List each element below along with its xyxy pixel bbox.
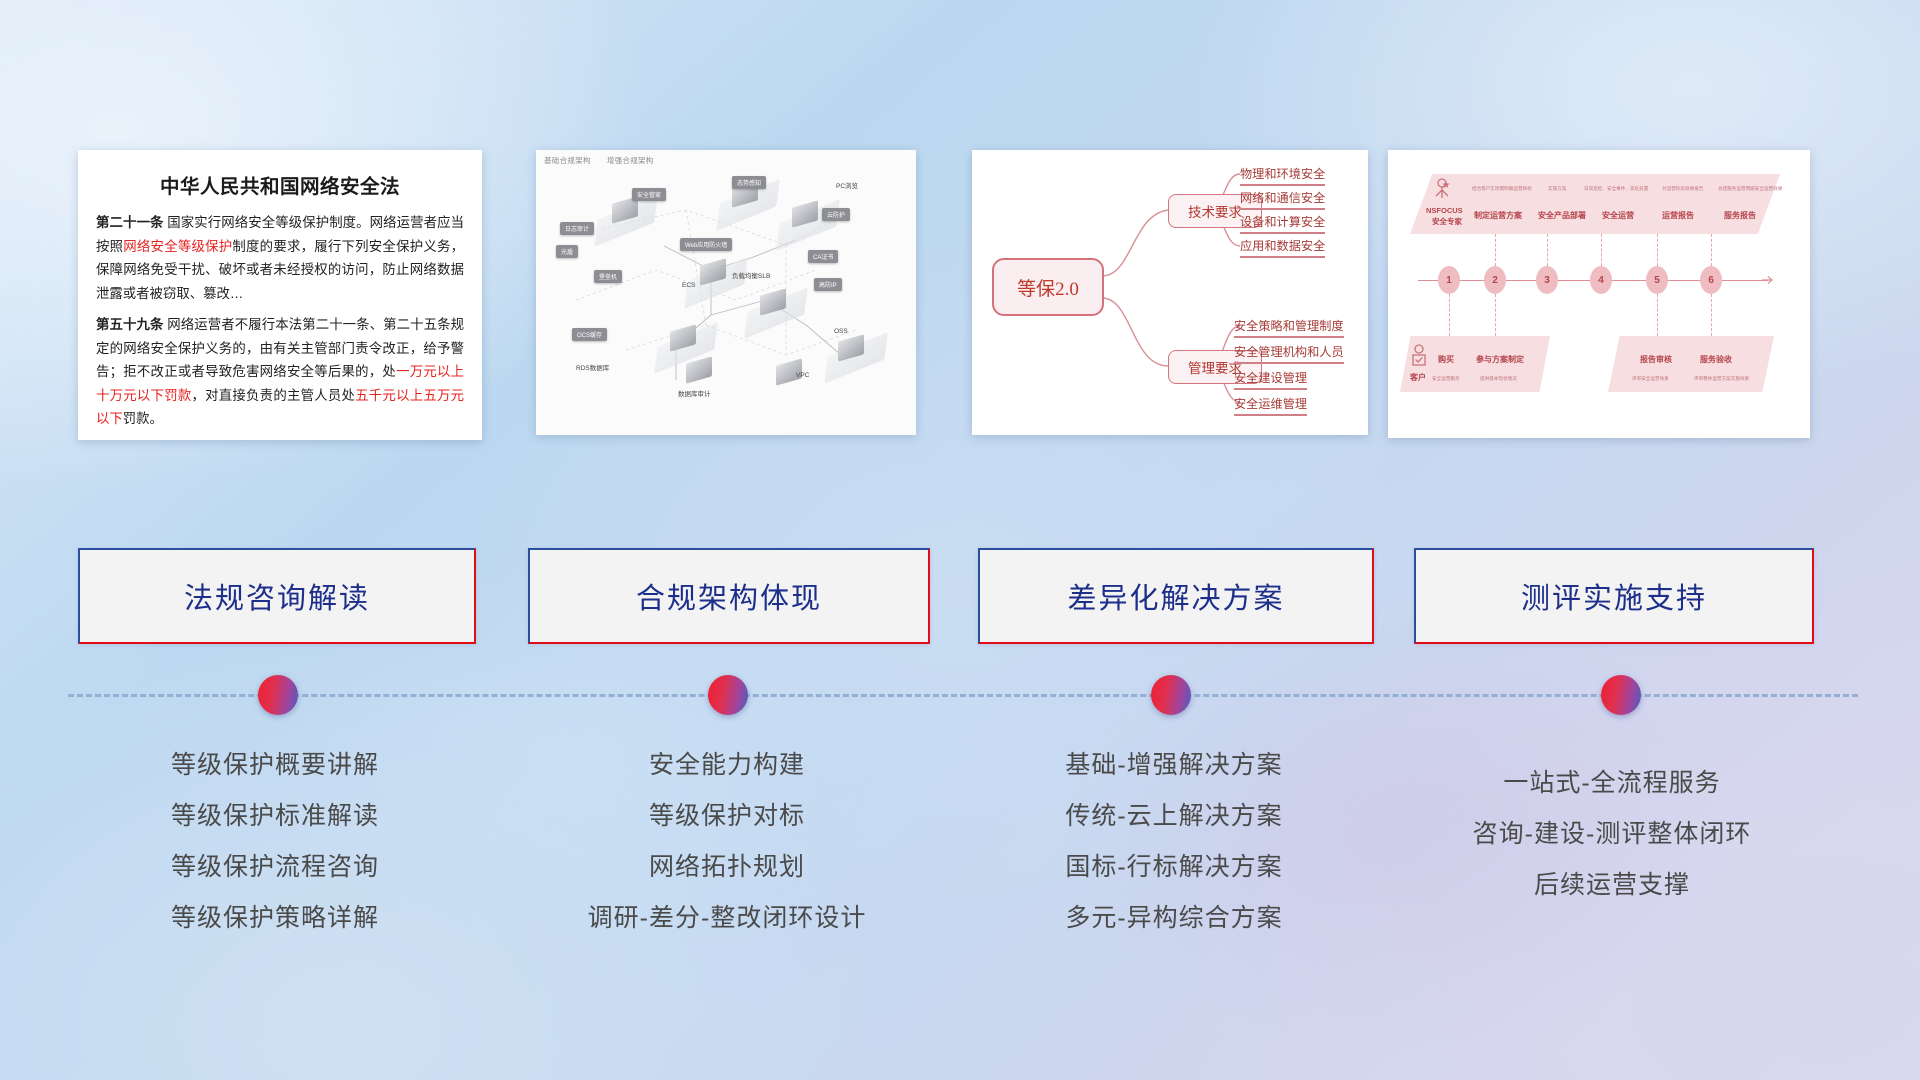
note-step-2: 实施方案 <box>1548 186 1566 192</box>
connector-5-bottom <box>1657 294 1658 336</box>
label-step-4: 运营报告 <box>1662 210 1694 221</box>
label-step-1: 制定运营方案 <box>1474 210 1522 221</box>
timeline-marker-2: 2 <box>1484 266 1506 294</box>
connector-6-bottom <box>1711 294 1712 336</box>
title-label-evaluation: 测评实施支持 <box>1521 575 1707 617</box>
law-document: 中华人民共和国网络安全法 第二十一条 国家实行网络安全等级保护制度。网络运营者应… <box>78 150 482 440</box>
title-box-solutions[interactable]: 差异化解决方案 <box>978 548 1374 644</box>
band-provider <box>1410 174 1780 234</box>
connector-2-bottom <box>1495 294 1496 336</box>
label-report-review: 报告审核 <box>1640 354 1672 365</box>
security-expert-icon <box>1432 178 1452 204</box>
timeline-marker-6: 6 <box>1700 266 1722 294</box>
label-step-5: 服务报告 <box>1724 210 1756 221</box>
list-item: 国标-行标解决方案 <box>978 842 1370 893</box>
article-21-highlight: 网络安全等级保护 <box>123 239 232 254</box>
note-participate: 提供基本现状情况 <box>1480 376 1517 382</box>
customer-icon <box>1410 344 1428 368</box>
title-box-architecture[interactable]: 合规架构体现 <box>528 548 930 644</box>
note-step-5: 总结服务运营周期安全运营效果 <box>1718 186 1782 192</box>
card-service-timeline[interactable]: NSFOCUS 安全专家 结合客户实际需明确运营目标 实施方案 日常巡检、安全事… <box>1388 150 1810 438</box>
provider-role: 安全专家 <box>1432 216 1462 227</box>
mindmap-leaf-network: 网络和通信安全 <box>1240 188 1325 210</box>
timeline-arrow-icon <box>1762 273 1776 287</box>
timeline-marker-4: 4 <box>1590 266 1612 294</box>
list-item: 咨询-建设-测评整体闭环 <box>1414 809 1810 860</box>
title-label-architecture: 合规架构体现 <box>636 575 822 617</box>
card-cloud-architecture[interactable]: 基础合规架构增强合规架构 <box>536 150 916 435</box>
node-pc: PC浏览 <box>836 180 858 190</box>
title-label-solutions: 差异化解决方案 <box>1067 575 1284 617</box>
mindmap-leaf-org: 安全管理机构和人员 <box>1234 342 1344 364</box>
note-report-review: 评审安全运营效果 <box>1632 376 1669 382</box>
detail-list-evaluation: 一站式-全流程服务 咨询-建设-测评整体闭环 后续运营支撑 <box>1414 758 1810 911</box>
connector-3-top <box>1547 234 1548 266</box>
slide-stage: 中华人民共和国网络安全法 第二十一条 国家实行网络安全等级保护制度。网络运营者应… <box>0 0 1920 1080</box>
connector-6-top <box>1711 234 1712 266</box>
provider-name: NSFOCUS <box>1426 206 1463 215</box>
node-taishi: 态势感知 <box>732 176 766 189</box>
note-buy: 安全运营服务 <box>1432 376 1460 382</box>
label-acceptance: 服务验收 <box>1700 354 1732 365</box>
note-step-4: 对运营阶段效果报告 <box>1662 186 1703 192</box>
label-buy: 购买 <box>1438 354 1454 365</box>
node-waf: Web应用防火墙 <box>680 238 732 251</box>
label-step-2: 安全产品部署 <box>1538 210 1586 221</box>
connector-2-top <box>1495 234 1496 266</box>
card-cybersecurity-law[interactable]: 中华人民共和国网络安全法 第二十一条 国家实行网络安全等级保护制度。网络运营者应… <box>78 150 482 440</box>
node-baoleiji: 堡垒机 <box>594 270 622 283</box>
mindmap-leaf-build: 安全建设管理 <box>1234 368 1307 390</box>
mindmap-leaf-physical: 物理和环境安全 <box>1240 164 1325 186</box>
label-step-3: 安全运营 <box>1602 210 1634 221</box>
detail-list-regulation: 等级保护概要讲解 等级保护标准解读 等级保护流程咨询 等级保护策略详解 <box>78 740 472 944</box>
node-ocs: OCS缓存 <box>572 328 607 341</box>
list-item: 一站式-全流程服务 <box>1414 758 1810 809</box>
mindmap-leaf-application: 应用和数据安全 <box>1240 236 1325 258</box>
mindmap-leaf-policy: 安全策略和管理制度 <box>1234 316 1344 338</box>
node-db-audit: 数据库审计 <box>678 388 711 398</box>
law-title: 中华人民共和国网络安全法 <box>96 170 464 199</box>
list-item: 等级保护策略详解 <box>78 893 472 944</box>
timeline-node-1[interactable] <box>258 675 298 715</box>
architecture-diagram: 基础合规架构增强合规架构 <box>536 150 916 435</box>
timeline-marker-1: 1 <box>1438 266 1460 294</box>
note-step-3: 日常巡检、安全事件、高危处置 <box>1584 186 1648 192</box>
band-customer-right <box>1608 336 1774 392</box>
node-rizhi: 日志审计 <box>560 222 594 235</box>
timeline-node-3[interactable] <box>1151 675 1191 715</box>
label-participate: 参与方案制定 <box>1476 354 1524 365</box>
timeline-dashed-line <box>68 694 1858 697</box>
mindmap-leaf-device: 设备和计算安全 <box>1240 212 1325 234</box>
title-box-regulation[interactable]: 法规咨询解读 <box>78 548 476 644</box>
node-gaofangip: 高防IP <box>814 278 842 291</box>
list-item: 等级保护流程咨询 <box>78 842 472 893</box>
list-item: 调研-差分-整改闭环设计 <box>528 893 926 944</box>
mindmap: 等保2.0 技术要求 管理要求 物理和环境安全 网络和通信安全 设备和计算安全 … <box>972 150 1368 435</box>
mindmap-leaf-ops: 安全运维管理 <box>1234 394 1307 416</box>
connector-5-top <box>1657 234 1658 266</box>
progress-timeline <box>68 694 1858 697</box>
article-59-text-b: ，对直接负责的主管人员处 <box>191 388 355 403</box>
note-step-1: 结合客户实际需明确运营目标 <box>1472 186 1532 192</box>
list-item: 等级保护标准解读 <box>78 791 472 842</box>
list-item: 等级保护概要讲解 <box>78 740 472 791</box>
connector-4-top <box>1601 234 1602 266</box>
architecture-connectors <box>536 150 916 435</box>
detail-list-solutions: 基础-增强解决方案 传统-云上解决方案 国标-行标解决方案 多元-异构综合方案 <box>978 740 1370 944</box>
timeline-node-4[interactable] <box>1601 675 1641 715</box>
node-ecs: ECS <box>682 282 695 289</box>
article-59-label: 第五十九条 <box>96 317 163 332</box>
timeline-node-2[interactable] <box>708 675 748 715</box>
title-box-evaluation[interactable]: 测评实施支持 <box>1414 548 1814 644</box>
note-acceptance: 评审整体运营方案实施效果 <box>1694 376 1749 382</box>
list-item: 传统-云上解决方案 <box>978 791 1370 842</box>
node-anquanguanjia: 安全管家 <box>632 188 666 201</box>
section-title-row: 法规咨询解读 合规架构体现 差异化解决方案 测评实施支持 <box>0 548 1920 646</box>
node-rds: RDS数据库 <box>576 362 609 372</box>
node-vpc: VPC <box>796 372 809 379</box>
list-item: 多元-异构综合方案 <box>978 893 1370 944</box>
title-label-regulation: 法规咨询解读 <box>184 575 370 617</box>
list-item: 后续运营支撑 <box>1414 860 1810 911</box>
law-article-59: 第五十九条 网络运营者不履行本法第二十一条、第二十五条规定的网络安全保护义务的，… <box>96 313 464 431</box>
node-oss: OSS <box>834 328 848 335</box>
list-item: 网络拓扑规划 <box>528 842 926 893</box>
timeline-marker-5: 5 <box>1646 266 1668 294</box>
list-item: 基础-增强解决方案 <box>978 740 1370 791</box>
preview-card-row: 中华人民共和国网络安全法 第二十一条 国家实行网络安全等级保护制度。网络运营者应… <box>0 150 1920 440</box>
node-guangdun: 光盾 <box>556 245 578 258</box>
connector-1-bottom <box>1449 294 1450 336</box>
node-yunfanghu: 云防护 <box>822 208 850 221</box>
customer-label: 客户 <box>1410 372 1426 383</box>
list-item: 等级保护对标 <box>528 791 926 842</box>
article-21-label: 第二十一条 <box>96 215 163 230</box>
card-dengbao-mindmap[interactable]: 等保2.0 技术要求 管理要求 物理和环境安全 网络和通信安全 设备和计算安全 … <box>972 150 1368 435</box>
node-slb: 负载均衡SLB <box>732 270 770 280</box>
list-item: 安全能力构建 <box>528 740 926 791</box>
mindmap-root: 等保2.0 <box>992 258 1104 316</box>
timeline-marker-3: 3 <box>1536 266 1558 294</box>
detail-list-architecture: 安全能力构建 等级保护对标 网络拓扑规划 调研-差分-整改闭环设计 <box>528 740 926 944</box>
law-article-21: 第二十一条 国家实行网络安全等级保护制度。网络运营者应当按照网络安全等级保护制度… <box>96 211 464 305</box>
article-59-text-c: 罚款。 <box>123 411 163 426</box>
service-timeline: NSFOCUS 安全专家 结合客户实际需明确运营目标 实施方案 日常巡检、安全事… <box>1388 150 1810 438</box>
node-ca: CA证书 <box>808 250 838 263</box>
